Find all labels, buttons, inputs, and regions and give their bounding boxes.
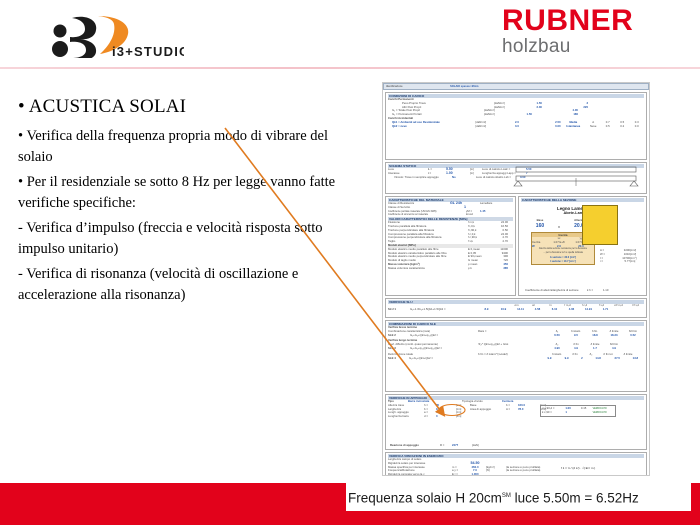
row-value: 0.0 (495, 125, 519, 129)
row-sym: d = (424, 415, 436, 419)
doc-title-bar: Identificazione SOLAIO spessa >20cm (383, 83, 649, 90)
reazione-label: Reazione di appoggio (390, 444, 440, 448)
i3-studio-wordmark: i3+STUDIO (112, 44, 184, 58)
value-row: i =5.77[cm] (600, 260, 644, 264)
row-note: Lamellare (480, 202, 504, 206)
doc-section-vibrazioni: VERIFICA VIBRAZIONI IN ESERCIZIO Larghez… (385, 452, 647, 476)
kc90-value: 1 (565, 411, 581, 415)
sle-expr: G₁+G₂+Qk1+Qk2 = (409, 357, 541, 361)
row-psi0: 0.5 (600, 125, 615, 129)
reazione-sym: R = (440, 444, 452, 448)
sle-v3: 1.7 (586, 347, 604, 351)
kh-row: Coefficiente di altezza/larghezza di sez… (525, 289, 619, 293)
reazione-appoggio-block: Reazione di appoggio R = 2477 [daN] (390, 444, 490, 448)
row-label: Lunghezza barre (388, 415, 424, 419)
prop-label: Massa volumica caratteristica (388, 267, 468, 271)
row-unit: [cm] (456, 415, 470, 419)
slu-v3: 14.11 (512, 308, 529, 312)
doc-section-schema: SCHEMA STATICO Luce L = 5.50 [m] Luce di… (385, 162, 647, 194)
sle-v1: 4.90 (548, 347, 566, 351)
sle-v1: 6.50 (548, 334, 566, 338)
doc-section-slu: VERIFICHE SLU σm σc τv f m,d f c,d f v,d… (385, 298, 647, 318)
sle-v2: 9.5 (566, 334, 586, 338)
sle-expr: G₁+G₂+ψ₂₁Qk1+ψ₂₂Qk2 = (410, 347, 548, 351)
bullet-3: - Verifica d’impulso (freccia e velocità… (18, 218, 348, 260)
row-value: 1.50 (506, 113, 532, 117)
sle-v2: 4.9 (566, 347, 586, 351)
slu-v6: 4.06 (563, 308, 580, 312)
doc-title-left: Identificazione (386, 84, 403, 89)
sle-v6: 13.8 (627, 357, 644, 361)
row-label: Qk2 = neve (388, 125, 475, 129)
slu-v8: 1.71 (597, 308, 614, 312)
sle-v2: 9.9 (558, 357, 575, 361)
doc-section-materiale: CARATTERISTICHE DEL MATERIALE Classe di … (385, 196, 516, 296)
kh-sym: k h = (587, 289, 603, 293)
header-divider (0, 67, 700, 69)
row-note: kmod (466, 213, 480, 217)
slu-id: SLU 1 (388, 308, 410, 312)
bullet-4: - Verifica di risonanza (velocità di osc… (18, 264, 348, 306)
slide: i3+STUDIO RUBNER holzbau • ACUSTICA SOLA… (0, 0, 700, 525)
reazione-unit: [daN] (472, 444, 490, 448)
area-sym: A = (506, 408, 518, 412)
beam-static-scheme-diagram (512, 166, 642, 188)
rubner-subwordmark: holzbau (502, 37, 692, 57)
slide-body-text: • ACUSTICA SOLAI • Verifica della freque… (18, 94, 348, 310)
sle-v4: 14.8 (589, 357, 608, 361)
row-unit: [N] (486, 469, 506, 473)
times-symbol: x (553, 219, 565, 229)
row-value2: 0.00 (519, 125, 561, 129)
slu-v5: 6.10 (546, 308, 563, 312)
sle-v5: 0.52 (624, 334, 642, 338)
slu-v1: 8.9 (478, 308, 495, 312)
row-note: (la sezione è poco profilata) (506, 469, 566, 473)
row-sym: E I = (452, 473, 464, 476)
reazione-value: 2477 (452, 444, 472, 448)
caption-after: luce 5.50m = 6.52Hz (511, 491, 639, 506)
row-durata: Istantanea (561, 125, 586, 129)
sle-id: SLE 2 (388, 334, 410, 338)
props-list: Flessionef m,k24.00 Trazione parallela a… (388, 221, 513, 270)
formula-block: f 1 = π / (2 L²) · √( EI / m ) n 40 = ( … (561, 461, 643, 476)
row-label: Rigidezza campata verso la y (388, 473, 452, 476)
sle-v3: 18.8 (586, 334, 604, 338)
doc-section-sezione: CARATTERISTICHE DELLA SEZIONE Legno Lame… (518, 196, 647, 296)
bullet-2: • Per il residenziale se sotto 8 Hz per … (18, 172, 348, 214)
slu-v7: 14.91 (580, 308, 597, 312)
value-unit: [cm] (630, 260, 644, 264)
slu-data-row: SLU 1 G₁+1.3G₂+1.5Qk1+1.5Qk2 = 8.9 10.9 … (388, 308, 644, 312)
prop-value: 2.70 (488, 240, 508, 244)
slide-heading: • ACUSTICA SOLAI (18, 94, 348, 120)
row-value: 1.45 (480, 210, 500, 214)
sezione-right-values: A =3200[cm²] W =1010[cm³] I =10700[cm⁴] … (600, 249, 644, 264)
prop-sym: f v,k (468, 240, 488, 244)
sle-row: SLE 4 G₁+G₂+Qk1+Qk2 = 9.9 9.9 2 14.8 27.… (388, 357, 644, 361)
row-label: Vincolo: Trave in semplice appoggio (388, 176, 452, 180)
beam-cross-section-figure (582, 205, 618, 245)
area-value: 78.0 (518, 408, 540, 412)
kc90-result: VERIFICATO (593, 411, 614, 415)
row-psi1: 0.2 (615, 125, 630, 129)
sle-v4: 18.33 (604, 334, 624, 338)
doc-section-appoggio: VERIFICHE IN APPOGGIO Tipo Barre incroci… (385, 394, 647, 450)
sle-id: SLE 4 (388, 357, 409, 361)
doc-section-sle: COMBINAZIONI DI CARICO SLE Verifica brev… (385, 320, 647, 392)
beam-section-rect (582, 205, 618, 245)
kh-value: 1.10 (603, 289, 619, 293)
slu-expr: G₁+1.3G₂+1.5Qk1+1.5Qk2 = (410, 308, 478, 312)
slu-v2: 10.9 (495, 308, 512, 312)
sle-id: SLE 3 (388, 347, 410, 351)
value-num: 5.77 (612, 260, 630, 264)
row-value2: 180 (532, 113, 578, 117)
row-unit: [daN/m²] (475, 125, 495, 129)
value-sym: i = (600, 260, 612, 264)
row-categoria: Neve (586, 125, 601, 129)
sle-expr: G₁+G₂+Qk1+ψ₀₂Qk2 = (410, 334, 548, 338)
row-value: 0 (436, 415, 456, 419)
prop-row: Massa volumica caratteristicaρ k385 (388, 267, 513, 271)
kc90-label: k c,90 = (542, 411, 565, 415)
sle-v3: 2 (575, 357, 588, 361)
caption-superscript: SM (502, 493, 511, 499)
row-psi2: 0.0 (629, 125, 644, 129)
sigma-c90-chk: 0.15 (581, 407, 593, 411)
caption-before: Frequenza solaio H 20cm (348, 491, 502, 506)
row-value: No (452, 176, 476, 180)
caption-text: Frequenza solaio H 20cmSM luce 5.50m = 6… (348, 485, 698, 510)
sle-v1: 9.9 (541, 357, 558, 361)
doc-section-carichi: CONDIZIONI DI CARICO Carichi Permanenti … (385, 92, 647, 160)
rubner-holzbau-logo: RUBNER holzbau (502, 6, 692, 57)
kh-label: Coefficiente di altezza/larghezza di sez… (525, 289, 587, 293)
area-label: Area di appoggio (470, 408, 506, 412)
base-value: 160 (527, 223, 553, 229)
prop-sym: ρ k (468, 267, 488, 271)
reazione-row: Reazione di appoggio R = 2477 [daN] (390, 444, 490, 448)
sle-v5: 27.5 (608, 357, 627, 361)
sle-row: SLE 3 G₁+G₂+ψ₂₁Qk1+ψ₂₂Qk2 = 4.90 4.9 1.7… (388, 347, 644, 351)
col-ratio-v: τ/f v,d (627, 304, 644, 308)
rubner-wordmark: RUBNER (502, 6, 692, 36)
inerzia-note-4: I sezione = 10.7 [cm⁴] (532, 260, 594, 264)
prop-value: 385 (488, 267, 508, 271)
doc-row: Qk2 = neve [daN/m²] 0.0 0.00 Istantanea … (388, 125, 644, 129)
structural-calculation-sheet: Identificazione SOLAIO spessa >20cm COND… (382, 82, 650, 476)
doc-materiale-sezione-wrap: CARATTERISTICHE DEL MATERIALE Classe di … (385, 196, 647, 296)
formula-f1: f 1 = π / (2 L²) · √( EI / m ) (561, 461, 643, 476)
i3-studio-logo: i3+STUDIO (34, 12, 184, 58)
doc-title-value: SOLAIO spessa >20cm (450, 84, 478, 89)
section-title-sezione: CARATTERISTICHE DELLA SEZIONE (521, 198, 644, 202)
bullet-1: • Verifica della frequenza propria modo … (18, 126, 348, 168)
row-unit: [daN/m²] (484, 113, 506, 117)
verify-row: k c,90 = 1 VERIFICATO (542, 411, 614, 415)
appoggio-verify-box: σ c,90,d = 1.00 0.15 VERIFICATO k c,90 =… (540, 405, 616, 417)
slu-v4: 4.58 (529, 308, 546, 312)
sle-v4: 4.9 (604, 347, 624, 351)
sle-row: SLE 2 G₁+G₂+Qk1+ψ₀₂Qk2 = 6.50 9.5 18.8 1… (388, 334, 644, 338)
row-value: 1.000 (464, 473, 486, 476)
